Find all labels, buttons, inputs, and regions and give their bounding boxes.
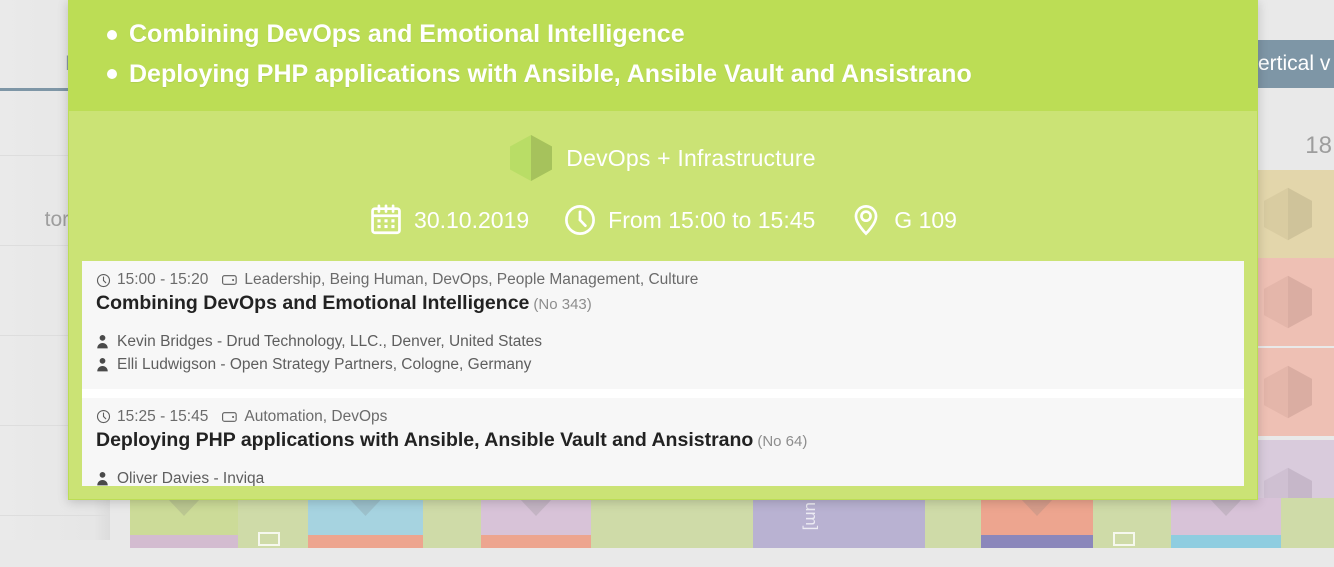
calendar-session-cell[interactable]: um] (753, 498, 925, 548)
session-cell-badge (1113, 532, 1135, 546)
session-entry[interactable]: 15:25 - 15:45Automation, DevOpsDeploying… (82, 398, 1244, 487)
bullet-icon (107, 69, 117, 79)
calendar-session-cell[interactable] (130, 498, 238, 548)
person-icon (96, 357, 109, 372)
session-title[interactable]: Deploying PHP applications with Ansible,… (96, 429, 1230, 452)
popup-facts: 30.10.2019 From 15:00 to 15:45 (89, 203, 1237, 237)
person-icon (96, 471, 109, 486)
session-cell-body (1093, 498, 1171, 535)
track-name: DevOps + Infrastructure (566, 145, 815, 172)
session-time: 15:25 - 15:45 (117, 408, 208, 426)
tag-icon (222, 273, 238, 287)
popup-track: DevOps + Infrastructure (89, 135, 1237, 181)
session-cell-body (591, 498, 753, 535)
popup-meta-section: DevOps + Infrastructure (69, 111, 1257, 255)
popup-title-bar: Combining DevOps and Emotional Intellige… (69, 1, 1257, 111)
session-cell-body (238, 498, 308, 535)
calendar-session-cell[interactable] (1256, 348, 1334, 436)
calendar-right-number: 18 (1305, 132, 1332, 160)
session-cell-body (1281, 498, 1334, 535)
calendar-session-cell[interactable] (925, 498, 981, 548)
person-icon (96, 334, 109, 349)
popup-title-item: Combining DevOps and Emotional Intellige… (89, 15, 1237, 55)
clock-icon (96, 273, 111, 288)
session-hexagon-icon (1264, 275, 1312, 329)
session-entry[interactable]: 15:00 - 15:20Leadership, Being Human, De… (82, 261, 1244, 389)
calendar-session-cell[interactable] (1281, 498, 1334, 548)
popup-title-text: Combining DevOps and Emotional Intellige… (129, 20, 685, 48)
session-cell-footer (753, 535, 925, 548)
calendar-session-cell[interactable] (1171, 498, 1281, 548)
calendar-vertical-header: ertical v (1256, 40, 1334, 88)
session-meta-line: 15:00 - 15:20Leadership, Being Human, De… (96, 271, 1230, 289)
calendar-bottom-bar (0, 548, 1334, 567)
session-speaker-list: Oliver Davies - Inviqa (96, 467, 1230, 487)
bullet-icon (107, 30, 117, 40)
speaker-name: Kevin Bridges - Drud Technology, LLC., D… (117, 330, 542, 353)
session-time: 15:00 - 15:20 (117, 271, 208, 289)
popup-title-item: Deploying PHP applications with Ansible,… (89, 55, 1237, 95)
speaker-name: Elli Ludwigson - Open Strategy Partners,… (117, 353, 531, 376)
popup-time-text: From 15:00 to 15:45 (608, 207, 815, 234)
popup-title-text: Deploying PHP applications with Ansible,… (129, 60, 972, 88)
popup-session-list: 15:00 - 15:20Leadership, Being Human, De… (82, 261, 1244, 486)
calendar-session-cell[interactable] (981, 498, 1093, 548)
session-cell-body (925, 498, 981, 535)
session-cell-vertical-label: um] (801, 502, 821, 530)
session-cell-body (753, 498, 925, 535)
clock-icon (96, 409, 111, 424)
calendar-session-cell[interactable] (1256, 258, 1334, 346)
popup-date-text: 30.10.2019 (414, 207, 529, 234)
calendar-bottom-session-strip: um] (110, 498, 1334, 548)
calendar-session-cell[interactable] (238, 498, 308, 548)
session-cell-footer (591, 535, 753, 548)
speaker-row: Oliver Davies - Inviqa (96, 467, 1230, 487)
popup-room-text: G 109 (894, 207, 957, 234)
session-cell-body (423, 498, 481, 535)
calendar-session-cell[interactable] (308, 498, 423, 548)
speaker-row: Kevin Bridges - Drud Technology, LLC., D… (96, 330, 1230, 353)
calendar-session-cell[interactable] (591, 498, 753, 548)
session-number: (No 343) (533, 296, 591, 313)
session-detail-popup[interactable]: Combining DevOps and Emotional Intellige… (68, 0, 1258, 500)
calendar-session-cell[interactable] (1093, 498, 1171, 548)
session-number: (No 64) (757, 433, 807, 450)
session-cell-footer (925, 535, 981, 548)
tag-icon (222, 410, 238, 424)
session-cell-footer (130, 535, 238, 548)
session-cell-badge (258, 532, 280, 546)
session-title-text: Combining DevOps and Emotional Intellige… (96, 292, 529, 314)
track-hexagon-icon (510, 135, 552, 181)
session-hexagon-icon (1264, 365, 1312, 419)
calendar-session-cell[interactable] (481, 498, 591, 548)
calendar-session-cell[interactable] (1256, 170, 1334, 258)
location-pin-icon (849, 203, 883, 237)
session-cell-footer (981, 535, 1093, 548)
session-cell-footer (1171, 535, 1281, 548)
session-tags: Leadership, Being Human, DevOps, People … (244, 271, 698, 289)
calendar-row-separator (0, 515, 108, 516)
session-meta-line: 15:25 - 15:45Automation, DevOps (96, 408, 1230, 426)
session-cell-footer (423, 535, 481, 548)
popup-title-list: Combining DevOps and Emotional Intellige… (89, 15, 1237, 94)
session-title-text: Deploying PHP applications with Ansible,… (96, 429, 753, 451)
speaker-name: Oliver Davies - Inviqa (117, 467, 264, 487)
session-speaker-list: Kevin Bridges - Drud Technology, LLC., D… (96, 330, 1230, 377)
popup-room-fact: G 109 (849, 203, 957, 237)
session-hexagon-icon (1264, 187, 1312, 241)
session-tags: Automation, DevOps (244, 408, 387, 426)
popup-date-fact: 30.10.2019 (369, 203, 529, 237)
clock-icon (563, 203, 597, 237)
session-cell-footer (1281, 535, 1334, 548)
session-cell-footer (481, 535, 591, 548)
session-cell-footer (308, 535, 423, 548)
calendar-icon (369, 203, 403, 237)
session-title[interactable]: Combining DevOps and Emotional Intellige… (96, 292, 1230, 315)
calendar-session-cell[interactable] (423, 498, 481, 548)
popup-time-fact: From 15:00 to 15:45 (563, 203, 815, 237)
speaker-row: Elli Ludwigson - Open Strategy Partners,… (96, 353, 1230, 376)
